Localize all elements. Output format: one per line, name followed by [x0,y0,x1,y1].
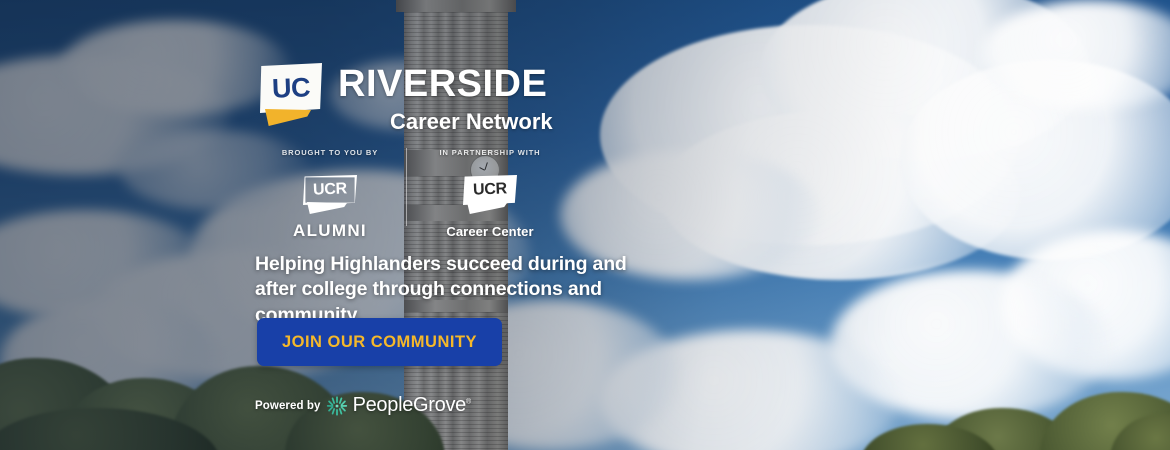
uc-logo-text: UC [259,62,323,114]
peoplegrove-trademark: ® [466,398,471,405]
hero-content: UC RIVERSIDE Career Network BROUGHT TO Y… [252,0,772,450]
partner-kicker-career-center: IN PARTNERSHIP WITH [429,148,551,157]
peoplegrove-burst-center [335,404,338,407]
partner-alumni: BROUGHT TO YOU BY UCR ALUMNI [276,148,384,241]
partner-name-alumni: ALUMNI [276,221,384,241]
peoplegrove-burst-icon [326,395,348,417]
ucr-alumni-logo-text: UCR [302,174,357,206]
ucr-career-center-logo-icon: UCR [463,175,517,215]
peoplegrove-brand-text: PeopleGrove [353,394,466,416]
partner-kicker-alumni: BROUGHT TO YOU BY [276,148,384,157]
ucr-cc-logo-text: UCR [462,174,517,206]
powered-by-label: Powered by [255,400,321,412]
peoplegrove-wordmark: PeopleGrove® [353,394,471,417]
brand-title: RIVERSIDE [338,65,553,103]
partner-name-career-center: Career Center [429,224,551,239]
join-our-community-button[interactable]: JOIN OUR COMMUNITY [257,318,502,366]
brand-lockup: UC RIVERSIDE Career Network [260,63,553,135]
hero-banner: UC RIVERSIDE Career Network BROUGHT TO Y… [0,0,1170,450]
ucr-alumni-logo-icon: UCR [303,175,357,215]
partner-career-center: IN PARTNERSHIP WITH UCR Career Center [429,148,551,239]
hero-tagline: Helping Highlanders succeed during and a… [255,252,645,328]
powered-by-peoplegrove[interactable]: Powered by PeopleGrov [255,394,471,417]
brand-subtitle: Career Network [390,109,553,135]
brand-wordmark: RIVERSIDE Career Network [338,63,553,135]
partner-strip: BROUGHT TO YOU BY UCR ALUMNI IN PARTNERS… [276,148,551,241]
uc-riverside-logo-icon: UC [260,63,324,125]
partner-divider [406,148,407,226]
